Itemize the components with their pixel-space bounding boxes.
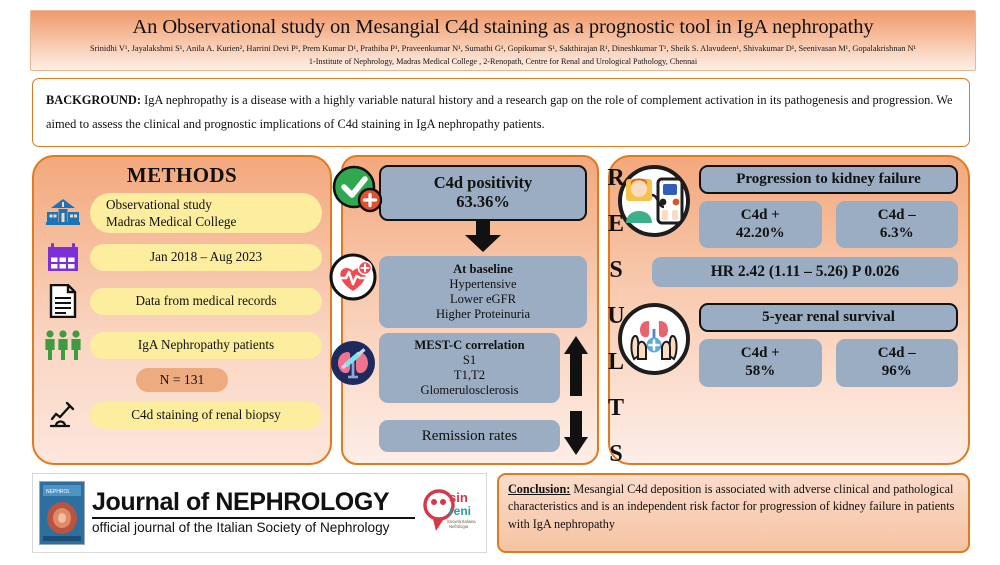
baseline-line: Lower eGFR	[385, 292, 581, 307]
svg-text:sin: sin	[449, 490, 468, 505]
journal-title: Journal of NEPHROLOGY	[92, 489, 415, 520]
survival-c4d-negative: C4d – 96%	[836, 339, 959, 386]
hazard-ratio-box: HR 2.42 (1.11 – 5.26) P 0.026	[652, 257, 958, 287]
graphical-abstract-poster: An Observational study on Mesangial C4d …	[0, 0, 1000, 565]
mestc-line: Glomerulosclerosis	[383, 383, 556, 398]
microscope-icon	[42, 400, 84, 430]
survival-values: C4d + 58% C4d – 96%	[699, 339, 958, 386]
progression-heading: Progression to kidney failure	[699, 165, 958, 194]
c4d-negative-label: C4d –	[840, 345, 955, 363]
c4d-positivity-title: C4d positivity	[387, 174, 579, 193]
main-content: METHODS	[32, 155, 970, 465]
author-list: Srinidhi V¹, Jayalakshmi S¹, Anila A. Ku…	[41, 43, 965, 55]
remission-label: Remission rates	[383, 427, 556, 445]
baseline-heading: At baseline	[385, 262, 581, 277]
baseline-box: At baseline Hypertensive Lower eGFR High…	[379, 256, 587, 328]
kidney-care-hands-icon	[618, 303, 692, 380]
survival-section: 5-year renal survival C4d + 58% C4d – 96…	[618, 303, 958, 386]
methods-item-staining: C4d staining of renal biopsy	[42, 393, 322, 437]
svg-text:Nefrologia: Nefrologia	[449, 524, 469, 529]
journal-cover-thumbnail: NEPHROL	[39, 481, 85, 545]
methods-panel: METHODS	[32, 155, 332, 465]
document-icon	[42, 284, 84, 318]
c4d-positivity-value: 63.36%	[387, 193, 579, 212]
background-label: BACKGROUND:	[46, 93, 141, 107]
c4d-negative-label: C4d –	[840, 207, 955, 225]
c4d-positive-value: 42.20%	[703, 225, 818, 243]
sample-size-badge: N = 131	[136, 368, 228, 392]
poster-header: An Observational study on Mesangial C4d …	[30, 10, 976, 71]
conclusion-label: Conclusion:	[508, 482, 570, 496]
sin-society-logo-icon: sin reni Società Italiana Nefrologia	[422, 487, 480, 539]
arrow-up-icon	[563, 335, 589, 402]
svg-text:reni: reni	[449, 504, 471, 518]
journal-text: Journal of NEPHROLOGY official journal o…	[92, 489, 415, 538]
background-text: IgA nephropathy is a disease with a high…	[46, 93, 953, 131]
methods-item-data-source: Data from medical records	[42, 279, 322, 323]
affiliation-list: 1-Institute of Nephrology, Madras Medica…	[41, 57, 965, 66]
c4d-positive-value: 58%	[703, 363, 818, 381]
results-letter: U	[607, 304, 624, 328]
check-positive-icon	[331, 165, 385, 222]
arrow-down-icon	[375, 219, 591, 258]
progression-values: C4d + 42.20% C4d – 6.3%	[699, 201, 958, 248]
mestc-box: MEST-C correlation S1 T1,T2 Glomeruloscl…	[379, 333, 560, 403]
conclusion-text: Mesangial C4d deposition is associated w…	[508, 482, 954, 531]
progression-c4d-negative: C4d – 6.3%	[836, 201, 959, 248]
journal-subtitle: official journal of the Italian Society …	[92, 520, 389, 535]
methods-pill-label: Data from medical records	[90, 288, 322, 315]
arrow-down-icon	[563, 410, 589, 461]
methods-pill-label: IgA Nephropathy patients	[90, 332, 322, 359]
methods-item-study-period: Jan 2018 – Aug 2023	[42, 235, 322, 279]
results-letter: S	[609, 258, 622, 282]
poster-footer: NEPHROL Journal of NEPHROLOGY official j…	[32, 473, 970, 553]
page-title: An Observational study on Mesangial C4d …	[41, 17, 965, 39]
results-right-panel: Progression to kidney failure C4d + 42.2…	[608, 155, 970, 465]
conclusion-section: Conclusion: Mesangial C4d deposition is …	[497, 473, 970, 553]
svg-text:NEPHROL: NEPHROL	[46, 489, 70, 495]
dialysis-patient-icon	[618, 165, 692, 242]
survival-c4d-positive: C4d + 58%	[699, 339, 822, 386]
c4d-positive-label: C4d +	[703, 207, 818, 225]
results-letter: R	[607, 166, 624, 190]
methods-heading: METHODS	[42, 163, 322, 188]
journal-branding: NEPHROL Journal of NEPHROLOGY official j…	[32, 473, 487, 553]
survival-heading: 5-year renal survival	[699, 303, 958, 332]
c4d-negative-value: 96%	[840, 363, 955, 381]
c4d-positivity-box: C4d positivity 63.36%	[379, 165, 587, 221]
results-letter: S	[609, 442, 622, 466]
baseline-line: Higher Proteinuria	[385, 307, 581, 322]
kidney-biopsy-icon	[329, 339, 377, 392]
results-center-panel: C4d positivity 63.36% At basel	[341, 155, 599, 465]
remission-box: Remission rates	[379, 420, 560, 452]
mestc-line: T1,T2	[383, 368, 556, 383]
remission-row: Remission rates	[379, 410, 589, 461]
results-letter: L	[608, 350, 624, 374]
baseline-line: Hypertensive	[385, 277, 581, 292]
methods-item-observational-study: Observational study Madras Medical Colle…	[42, 191, 322, 235]
heart-rate-icon	[329, 253, 377, 306]
c4d-positive-label: C4d +	[703, 345, 818, 363]
mestc-heading: MEST-C correlation	[383, 338, 556, 353]
mestc-line: S1	[383, 353, 556, 368]
c4d-negative-value: 6.3%	[840, 225, 955, 243]
methods-item-line1: Observational study	[106, 196, 314, 213]
results-letter: E	[608, 212, 624, 236]
methods-item-patients: IgA Nephropathy patients	[42, 323, 322, 367]
background-section: BACKGROUND: IgA nephropathy is a disease…	[32, 78, 970, 147]
people-icon	[42, 329, 84, 361]
methods-pill-label: Jan 2018 – Aug 2023	[90, 244, 322, 271]
methods-pill-label: C4d staining of renal biopsy	[90, 402, 322, 429]
methods-pill-label: Observational study Madras Medical Colle…	[90, 193, 322, 233]
mestc-row: MEST-C correlation S1 T1,T2 Glomeruloscl…	[379, 333, 589, 403]
methods-item-line2: Madras Medical College	[106, 213, 314, 230]
progression-section: Progression to kidney failure C4d + 42.2…	[618, 165, 958, 248]
school-icon	[42, 198, 84, 228]
results-letter: T	[608, 396, 624, 420]
progression-c4d-positive: C4d + 42.20%	[699, 201, 822, 248]
calendar-icon	[42, 242, 84, 273]
results-vertical-label: R E S U L T S	[603, 166, 629, 466]
